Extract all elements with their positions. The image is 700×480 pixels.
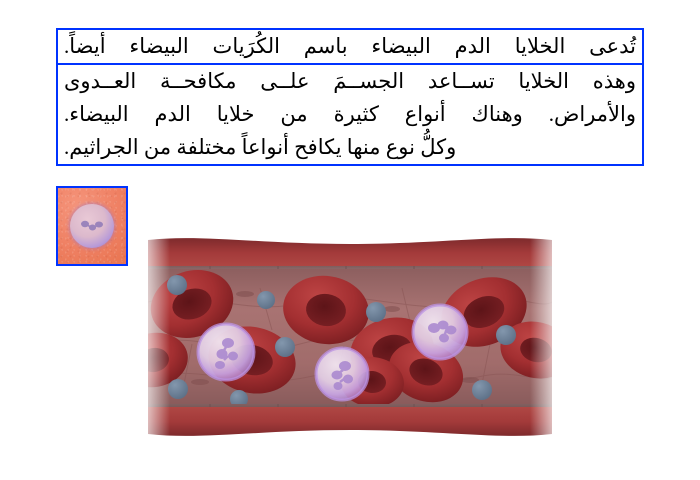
white-blood-cell	[198, 324, 254, 380]
body-line-2: والأمراض. وهناك أنواع كثيرة من خلايا الد…	[58, 98, 642, 131]
slide-page: تُدعى الخلايا الدم البيضاء باسم الكُرَيا…	[0, 0, 700, 480]
vessel-lumen	[140, 260, 560, 413]
text-panel: تُدعى الخلايا الدم البيضاء باسم الكُرَيا…	[56, 28, 644, 166]
left-edge-fade	[140, 232, 170, 442]
vessel-outer-top	[148, 238, 552, 270]
body-lines: وهذه الخلايا تســاعد الجســمَ علــى مكاف…	[58, 65, 642, 164]
white-blood-cell	[316, 348, 368, 400]
vessel-outer-bottom	[148, 404, 552, 436]
right-edge-fade	[530, 232, 560, 442]
body-line-1: وهذه الخلايا تســاعد الجســمَ علــى مكاف…	[58, 65, 642, 98]
blood-vessel-illustration	[140, 232, 560, 467]
body-line-3: وكلُّ نوع منها يكافح أنواعاً مختلفة من ا…	[58, 131, 642, 164]
thumbnail-nucleus-icon	[80, 219, 104, 233]
white-blood-cell	[413, 305, 467, 359]
heading-line: تُدعى الخلايا الدم البيضاء باسم الكُرَيا…	[58, 30, 642, 65]
thumbnail-cell-icon	[70, 204, 114, 248]
white-blood-cell-thumbnail	[56, 186, 128, 266]
blood-vessel-svg	[140, 232, 560, 467]
